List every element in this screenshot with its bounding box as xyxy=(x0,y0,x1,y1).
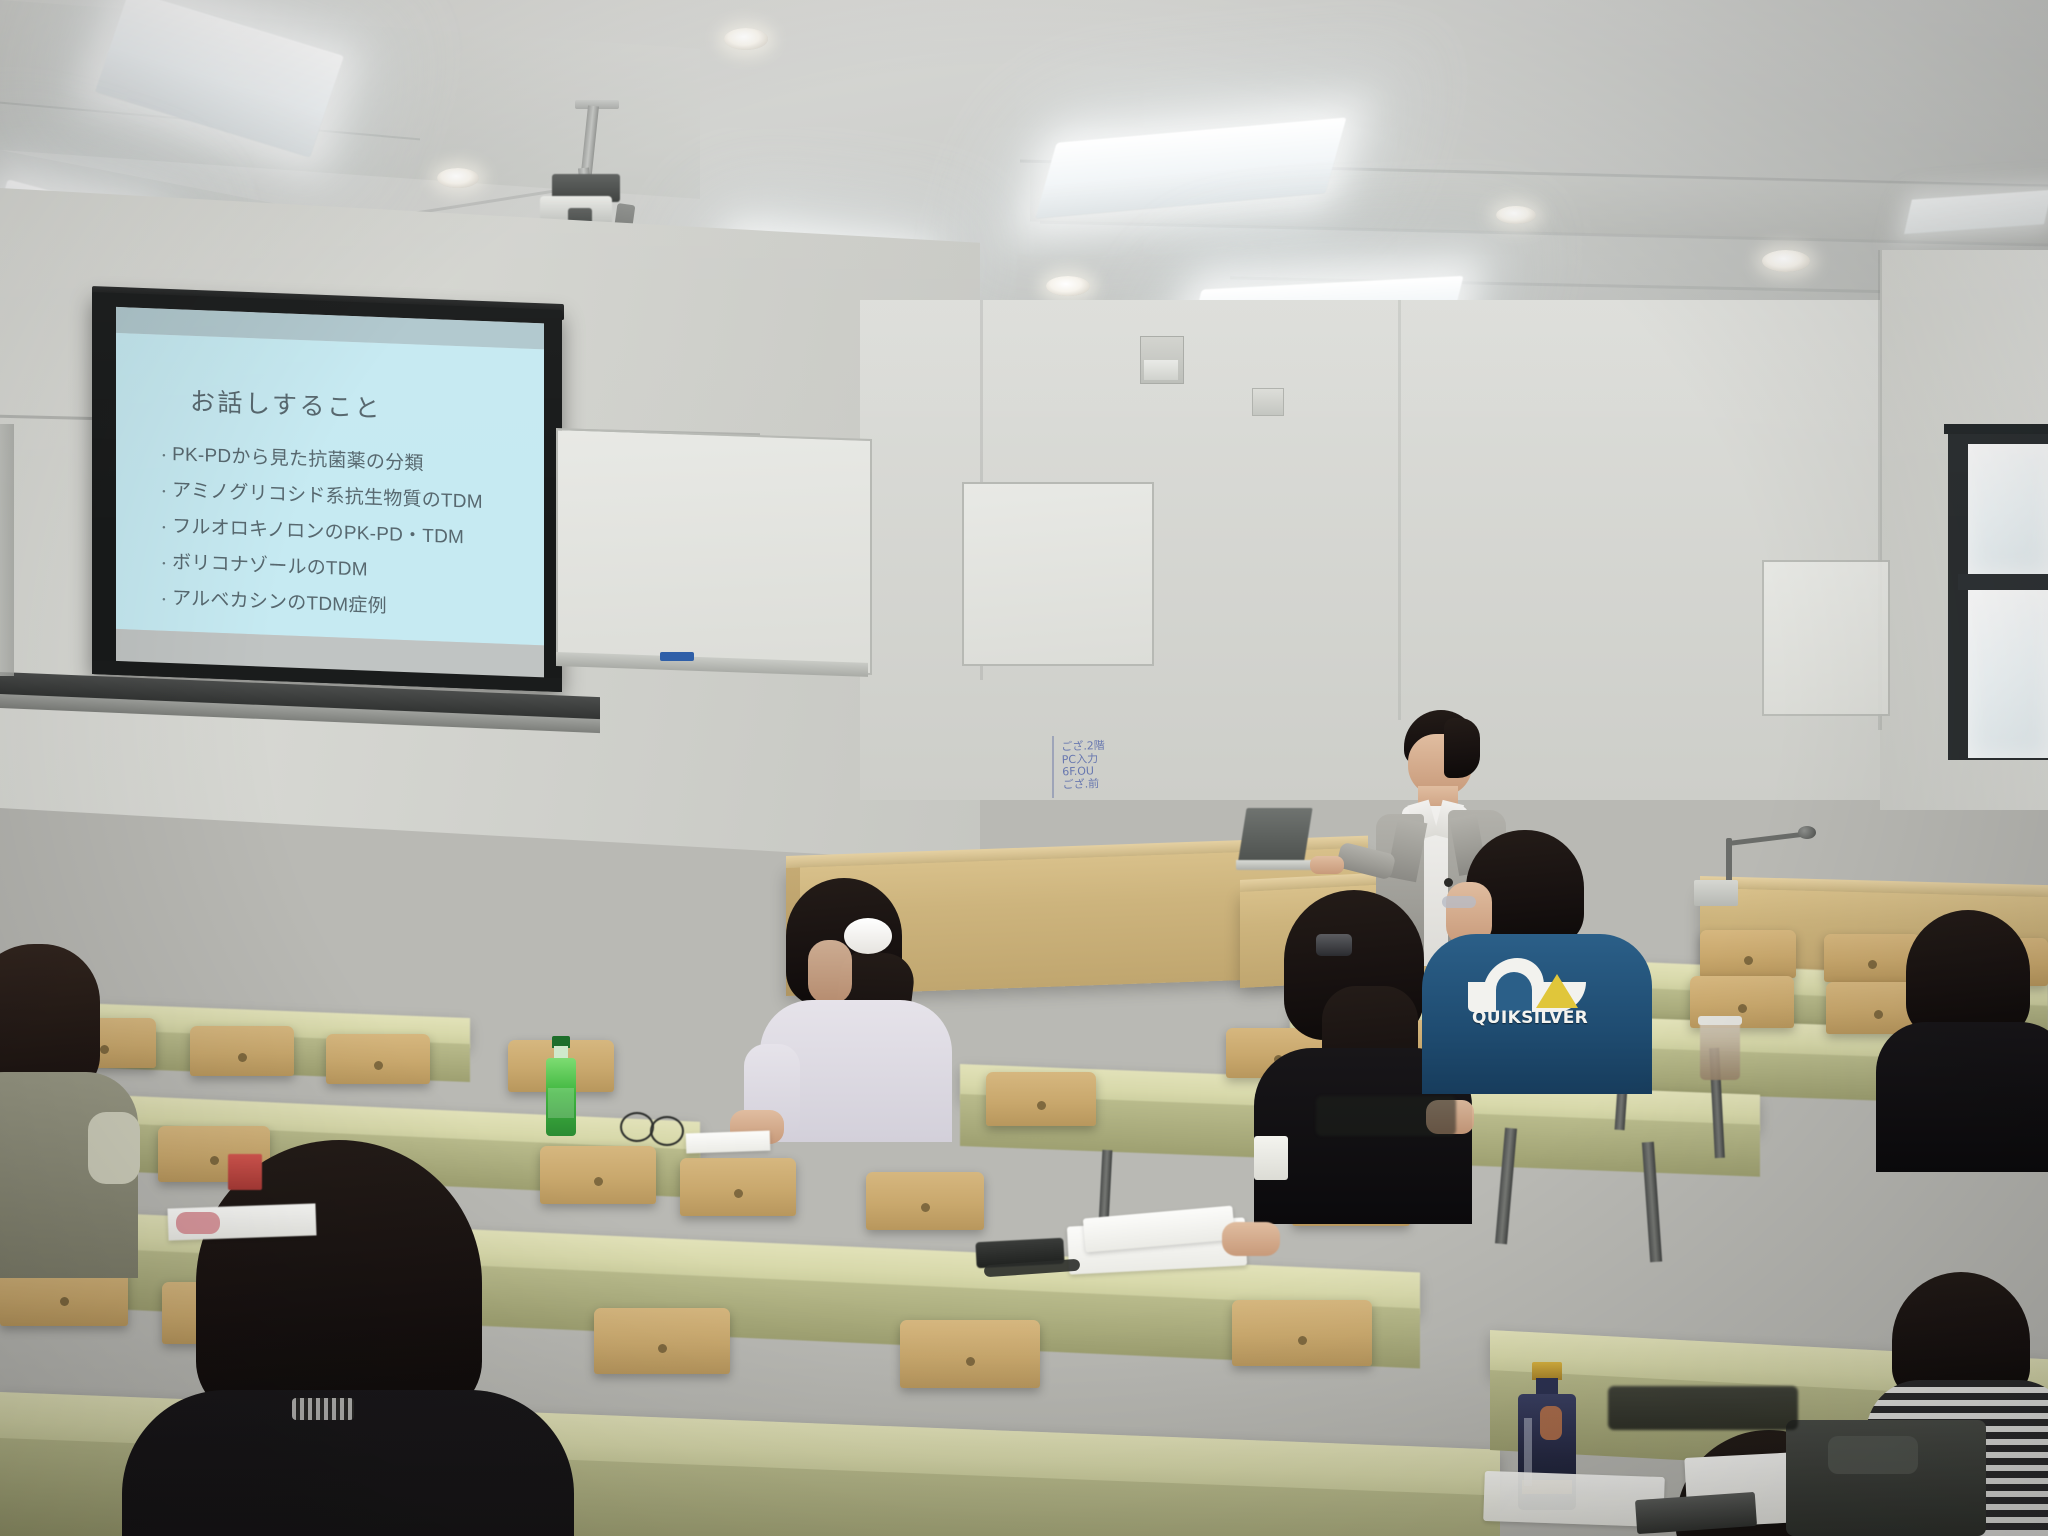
glasses-icon xyxy=(1442,896,1476,908)
chair-back[interactable] xyxy=(190,1026,294,1076)
laptop-screen xyxy=(1237,808,1312,866)
screen-surface: お話しすること ・ PK-PDから見た抗菌薬の分類 ・ アミノグリコシド系抗生物… xyxy=(116,307,544,679)
student-scrunchie xyxy=(844,918,892,954)
slide-bullet-4: ・ ボリコナゾールのTDM xyxy=(158,547,544,589)
white-cup[interactable] xyxy=(1254,1136,1288,1180)
window-header xyxy=(1944,424,2048,434)
quiksilver-logo: QUIKSILVER xyxy=(1468,956,1596,1028)
microphone-head xyxy=(1798,826,1816,839)
chair-back[interactable] xyxy=(866,1172,984,1230)
chair-back[interactable] xyxy=(986,1072,1096,1126)
student-top xyxy=(1876,1022,2048,1172)
projection-screen: お話しすること ・ PK-PDから見た抗菌薬の分類 ・ アミノグリコシド系抗生物… xyxy=(92,292,562,692)
bullet-marker-icon: ・ xyxy=(158,591,170,608)
bottle-label xyxy=(548,1088,574,1118)
student-right-back xyxy=(1880,910,2048,1170)
slide-bullet-1: ・ PK-PDから見た抗菌薬の分類 xyxy=(158,439,544,481)
student-hair xyxy=(1906,910,2030,1038)
chair-back[interactable] xyxy=(1700,930,1796,978)
whiteboard-right xyxy=(962,482,1154,666)
under-desk-shadow xyxy=(1316,1096,1456,1136)
wall-panel-right xyxy=(1762,560,1890,716)
student-left-olive xyxy=(0,944,170,1274)
student-quiksilver: QUIKSILVER xyxy=(1420,830,1670,1090)
slide-bullet-list: ・ PK-PDから見た抗菌薬の分類 ・ アミノグリコシド系抗生物質のTDM ・ … xyxy=(158,439,544,625)
student-hair-clip xyxy=(1316,934,1352,956)
wall-speaker-face xyxy=(1144,360,1178,380)
slide-title: お話しすること xyxy=(190,382,490,430)
iced-drink-cup[interactable] xyxy=(1700,1022,1740,1080)
slide-bullet-3: ・ フルオロキノロンのPK-PD・TDM xyxy=(158,511,544,553)
window-mullion xyxy=(1958,574,2048,590)
slide: お話しすること ・ PK-PDから見た抗菌薬の分類 ・ アミノグリコシド系抗生物… xyxy=(116,333,544,645)
chair-back[interactable] xyxy=(326,1034,430,1084)
red-cup[interactable] xyxy=(228,1154,262,1190)
wall-outlet-plate xyxy=(1252,388,1284,416)
floor-shading xyxy=(0,1330,2048,1536)
student-shoulder-highlight xyxy=(88,1112,140,1184)
ceiling-downlight-1 xyxy=(724,28,768,50)
bullet-marker-icon: ・ xyxy=(158,483,170,500)
glasses-left-lens xyxy=(620,1112,654,1142)
student-neck xyxy=(808,940,852,1004)
bullet-marker-icon: ・ xyxy=(158,555,170,572)
papers-mid-left[interactable] xyxy=(686,1131,771,1154)
whiteboard-handwritten-note: ござ.2階 PC入力 6F.OU ござ.前 xyxy=(1061,739,1143,792)
ceiling-downlight-3 xyxy=(1046,276,1090,296)
slide-bullet-5: ・ アルベカシンのTDM症例 xyxy=(158,583,544,625)
slide-bullet-text: アルベカシンのTDM症例 xyxy=(172,583,387,618)
quiksilver-wordmark: QUIKSILVER xyxy=(1472,1008,1596,1028)
ceiling-downlight-2 xyxy=(437,168,479,188)
window-pane-lower xyxy=(1968,590,2048,758)
bullet-marker-icon: ・ xyxy=(158,447,170,464)
student-hand-on-papers xyxy=(1222,1222,1280,1256)
whiteboard-center xyxy=(556,428,872,675)
presenter-hair-side xyxy=(1444,718,1480,778)
slide-bullet-text: PK-PDから見た抗菌薬の分類 xyxy=(172,439,424,476)
microphone-boom xyxy=(1730,831,1808,845)
window-pane-upper xyxy=(1968,444,2048,574)
whiteboard-marker xyxy=(660,652,694,661)
lecture-hall-photo: お話しすること ・ PK-PDから見た抗菌薬の分類 ・ アミノグリコシド系抗生物… xyxy=(0,0,2048,1536)
cup-lid xyxy=(1698,1016,1742,1025)
board-left-edge xyxy=(0,424,14,676)
pink-pouch[interactable] xyxy=(176,1212,220,1234)
av-control-box[interactable] xyxy=(1694,880,1738,906)
ceiling-downlight-4 xyxy=(1762,250,1810,272)
glasses-right-lens xyxy=(650,1116,684,1146)
green-bottle[interactable] xyxy=(544,1036,578,1136)
slide-bullet-text: アミノグリコシド系抗生物質のTDM xyxy=(172,475,483,514)
slide-bullet-text: フルオロキノロンのPK-PD・TDM xyxy=(172,511,464,549)
bullet-marker-icon: ・ xyxy=(158,519,170,536)
wall-seam-back xyxy=(1398,300,1401,720)
note-bracket-line xyxy=(1052,736,1054,798)
chair-back[interactable] xyxy=(680,1158,796,1216)
ceiling-downlight-5 xyxy=(1496,206,1536,224)
slide-bullet-2: ・ アミノグリコシド系抗生物質のTDM xyxy=(158,475,544,517)
student-front-ponytail xyxy=(744,878,974,1138)
presenter-hand xyxy=(1310,856,1344,874)
chair-back[interactable] xyxy=(540,1146,656,1204)
quiksilver-wave-inner xyxy=(1496,972,1532,1012)
slide-bullet-text: ボリコナゾールのTDM xyxy=(172,547,368,582)
